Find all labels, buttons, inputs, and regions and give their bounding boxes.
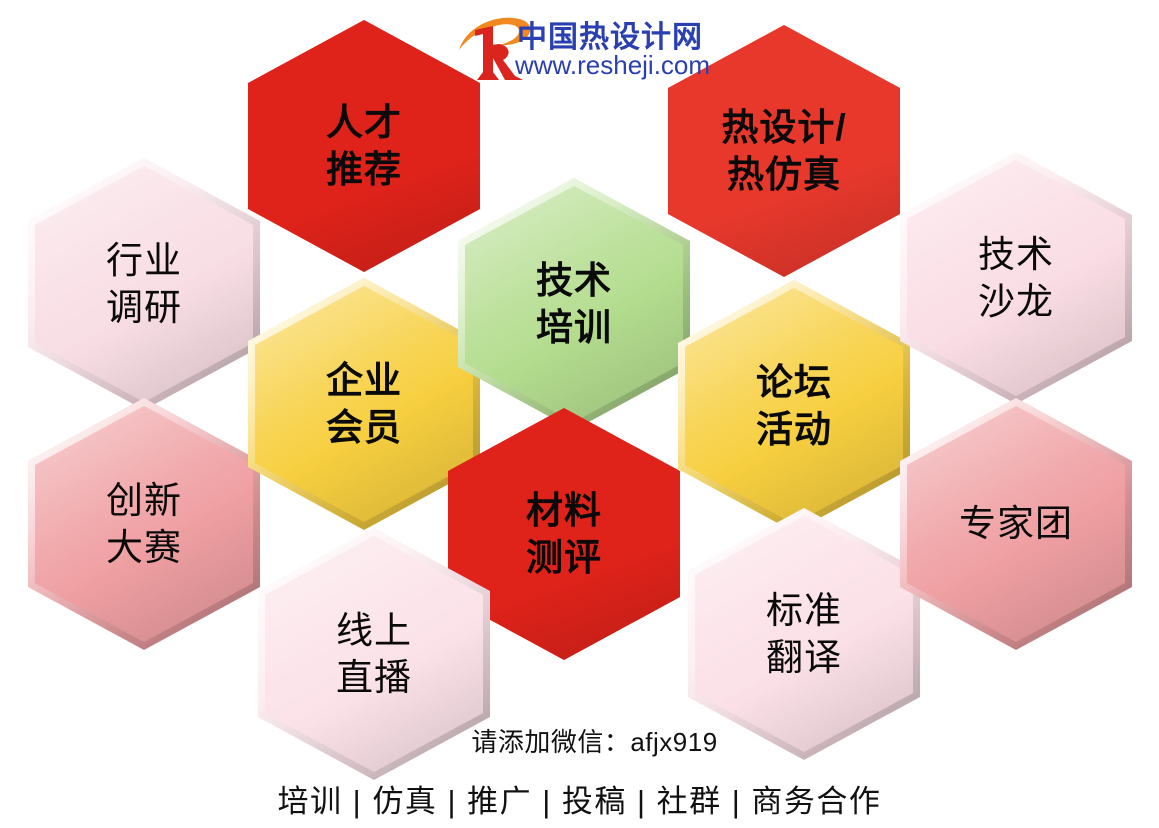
hex-label: 标准 翻译 [766,587,842,682]
hex-industry-research[interactable]: 行业 调研 [28,158,260,410]
hex-label: 行业 调研 [106,237,182,332]
hex-label: 论坛 活动 [756,359,832,454]
hex-label: 技术 沙龙 [978,231,1054,326]
logo-url-text: www.resheji.com [515,50,710,81]
services-list-line: 培训 | 仿真 | 推广 | 投稿 | 社群 | 商务合作 [0,776,1159,821]
wechat-contact-line: 请添加微信：afjx919 [0,722,1159,759]
hex-tech-salon[interactable]: 技术 沙龙 [900,152,1132,404]
hex-label: 热设计/ 热仿真 [721,104,846,199]
hex-label: 专家团 [959,500,1073,547]
hex-enterprise-member[interactable]: 企业 会员 [248,278,480,530]
hex-label: 线上 直播 [336,607,412,702]
hex-tech-training[interactable]: 技术 培训 [458,178,690,430]
hex-infographic-canvas: 行业 调研人才 推荐创新 大赛企业 会员技术 培训材料 测评线上 直播热设计/ … [0,0,1159,828]
hex-label: 技术 培训 [536,257,612,352]
site-logo: 中国热设计网 www.resheji.com [455,8,695,90]
hex-label: 材料 测评 [526,487,602,582]
hex-talent-recommend[interactable]: 人才 推荐 [248,20,480,272]
hex-label: 人才 推荐 [326,99,402,194]
wechat-contact-text: 请添加微信：afjx919 [471,722,717,759]
hex-label: 企业 会员 [326,357,402,452]
hex-innovation-contest[interactable]: 创新 大赛 [28,398,260,650]
hex-expert-team[interactable]: 专家团 [900,398,1132,650]
hex-forum-activity[interactable]: 论坛 活动 [678,280,910,532]
hex-label: 创新 大赛 [106,477,182,572]
